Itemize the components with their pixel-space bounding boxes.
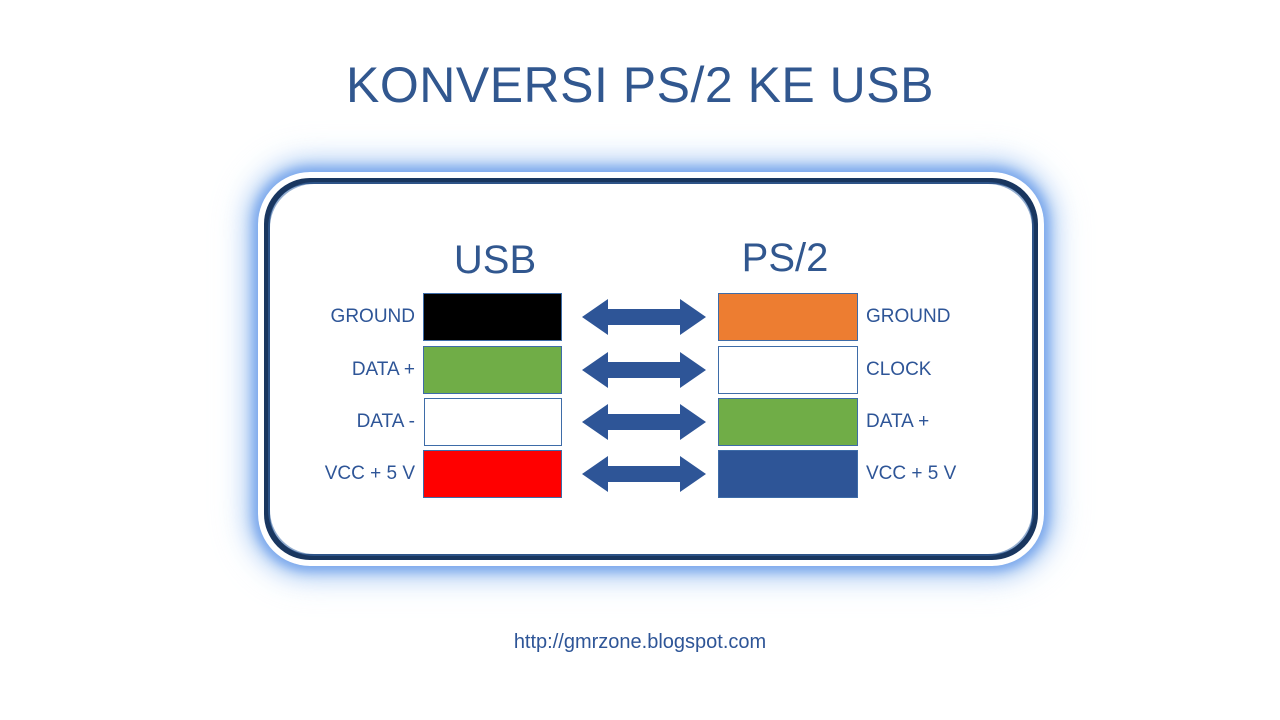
usb-pin-label: DATA + (250, 346, 415, 394)
usb-pin-label: GROUND (250, 293, 415, 341)
ps2-color-bar (718, 346, 858, 394)
usb-color-bar (424, 398, 562, 446)
usb-pin-label: VCC + 5 V (250, 450, 415, 498)
ps2-pin-label: CLOCK (866, 346, 1086, 394)
double-headed-arrow-icon (582, 454, 706, 494)
ps2-pin-label: DATA + (866, 398, 1086, 446)
double-headed-arrow-icon (582, 350, 706, 390)
ps2-pin-label: VCC + 5 V (866, 450, 1086, 498)
footer-url: http://gmrzone.blogspot.com (0, 631, 1280, 654)
usb-color-bar (423, 450, 562, 498)
double-headed-arrow-icon (582, 402, 706, 442)
usb-color-bar (423, 293, 562, 341)
double-headed-arrow-icon (582, 297, 706, 337)
ps2-color-bar (718, 398, 858, 446)
usb-pin-label: DATA - (250, 398, 415, 446)
ps2-pin-label: GROUND (866, 293, 1086, 341)
slide-title: KONVERSI PS/2 KE USB (0, 60, 1280, 110)
ps2-color-bar (718, 450, 858, 498)
usb-color-bar (423, 346, 562, 394)
column-header-usb: USB (395, 240, 595, 280)
column-header-ps2: PS/2 (685, 238, 885, 278)
ps2-color-bar (718, 293, 858, 341)
